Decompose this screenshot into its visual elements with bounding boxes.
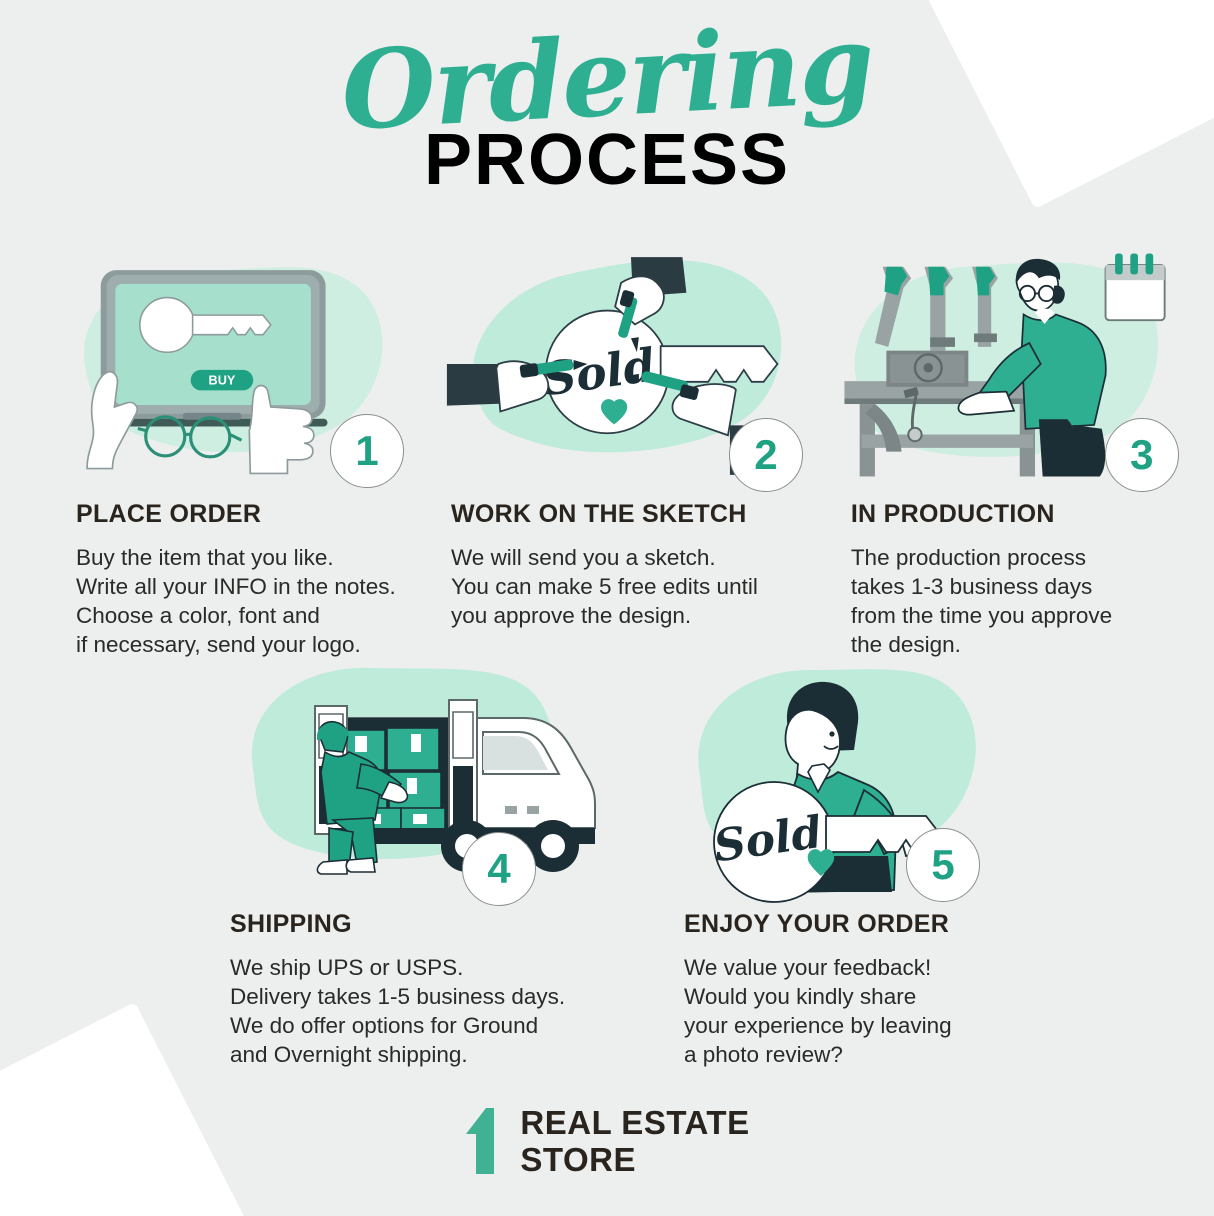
step-2-line-2: You can make 5 free edits until — [451, 572, 833, 601]
steps-row-bottom: 4 SHIPPING We ship UPS or USPS. Delivery… — [0, 656, 1214, 1069]
step-1-line-4: if necessary, send your logo. — [76, 630, 437, 659]
step-badge-2: 2 — [729, 418, 803, 492]
step-2-line-3: you approve the design. — [451, 601, 833, 630]
step-title-4: SHIPPING — [200, 910, 670, 939]
step-4-line-3: We do offer options for Ground — [230, 1011, 670, 1040]
step-4-line-2: Delivery takes 1-5 business days. — [230, 982, 670, 1011]
page-title: Ordering PROCESS — [0, 24, 1214, 196]
step-4-line-1: We ship UPS or USPS. — [230, 953, 670, 982]
step-3-line-2: takes 1-3 business days — [851, 572, 1214, 601]
step-1-line-3: Choose a color, font and — [76, 601, 437, 630]
step-badge-4: 4 — [462, 832, 536, 906]
step-body-4: We ship UPS or USPS. Delivery takes 1-5 … — [200, 953, 670, 1069]
step-5-line-1: We value your feedback! — [684, 953, 1070, 982]
step-body-3: The production process takes 1-3 busines… — [833, 543, 1214, 659]
step-title-2: WORK ON THE SKETCH — [437, 500, 833, 529]
step-2-line-1: We will send you a sketch. — [451, 543, 833, 572]
illustration-enjoy-your-order: Sold 5 — [670, 656, 1070, 892]
step-title-5: ENJOY YOUR ORDER — [670, 910, 1070, 939]
svg-text:BUY: BUY — [209, 374, 236, 388]
step-5-line-3: your experience by leaving — [684, 1011, 1070, 1040]
step-card-3: 3 IN PRODUCTION The production process t… — [833, 246, 1214, 659]
step-5-line-2: Would you kindly share — [684, 982, 1070, 1011]
step-badge-5: 5 — [906, 828, 980, 902]
step-title-3: IN PRODUCTION — [833, 500, 1214, 529]
brand-line-2: STORE — [520, 1141, 749, 1178]
step-body-2: We will send you a sketch. You can make … — [437, 543, 833, 630]
infographic-page: Ordering PROCESS — [0, 0, 1214, 1216]
steps-row-top: BUY 1 — [0, 246, 1214, 659]
step-3-line-4: the design. — [851, 630, 1214, 659]
house-arrow-logo-icon — [464, 1108, 506, 1174]
step-3-line-3: from the time you approve — [851, 601, 1214, 630]
illustration-in-production: 3 — [833, 246, 1214, 482]
step-body-1: Buy the item that you like. Write all yo… — [46, 543, 437, 659]
step-1-line-2: Write all your INFO in the notes. — [76, 572, 437, 601]
step-badge-3: 3 — [1105, 418, 1179, 492]
footer-logo: REAL ESTATE STORE — [0, 1104, 1214, 1178]
step-body-5: We value your feedback! Would you kindly… — [670, 953, 1070, 1069]
illustration-place-order: BUY 1 — [46, 246, 437, 482]
step-card-5: Sold 5 ENJOY YOUR ORDER We value your fe… — [670, 656, 1070, 1069]
step-3-line-1: The production process — [851, 543, 1214, 572]
step-4-line-4: and Overnight shipping. — [230, 1040, 670, 1069]
illustration-shipping: 4 — [200, 656, 670, 892]
step-title-1: PLACE ORDER — [46, 500, 437, 529]
step-card-1: BUY 1 — [46, 246, 437, 659]
brand-name: REAL ESTATE STORE — [520, 1104, 749, 1178]
step-badge-1: 1 — [330, 414, 404, 488]
step-card-2: Sold — [437, 246, 833, 659]
step-card-4: 4 SHIPPING We ship UPS or USPS. Delivery… — [200, 656, 670, 1069]
illustration-work-on-sketch: Sold — [437, 246, 833, 482]
step-5-line-4: a photo review? — [684, 1040, 1070, 1069]
brand-line-1: REAL ESTATE — [520, 1104, 749, 1141]
step-1-line-1: Buy the item that you like. — [76, 543, 437, 572]
